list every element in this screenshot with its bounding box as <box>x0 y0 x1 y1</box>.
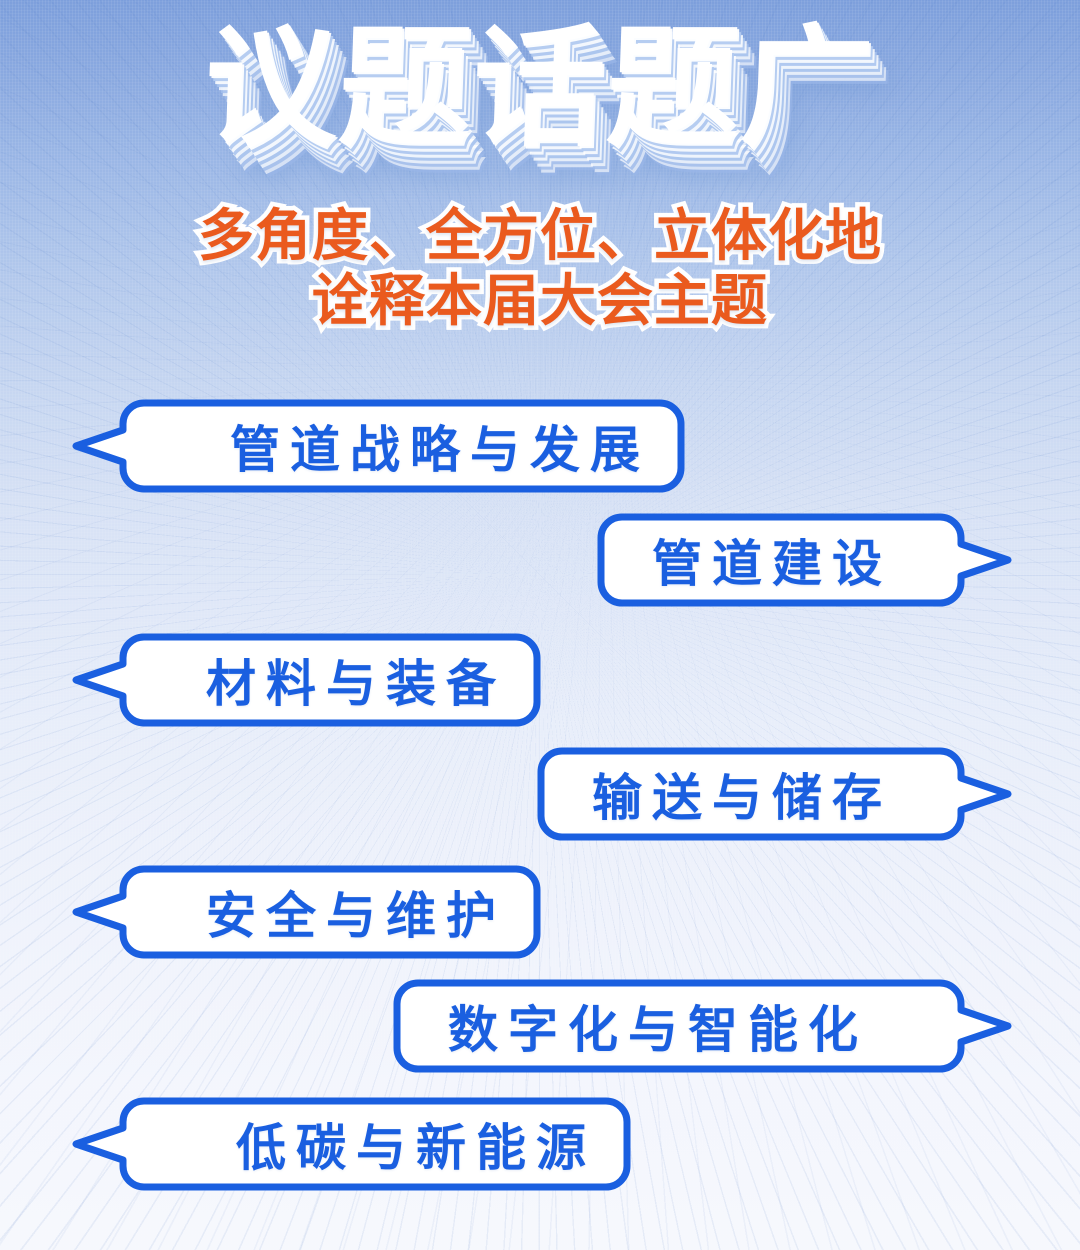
subtitle-line-1: 多角度、全方位、立体化地 <box>0 205 1080 270</box>
headline-block: 议题话题广 <box>0 18 1080 161</box>
topic-pill-4[interactable]: 输送与储存 <box>536 746 1014 842</box>
topic-pill-7[interactable]: 低碳与新能源 <box>70 1096 632 1192</box>
topic-pill-3[interactable]: 材料与装备 <box>70 632 542 728</box>
topic-pill-2-label: 管道建设 <box>652 524 892 596</box>
subtitle-line-2: 诠释本届大会主题 <box>0 270 1080 335</box>
poster-canvas: 议题话题广 多角度、全方位、立体化地 诠释本届大会主题 管道战略与发展 管道建设… <box>0 0 1080 1250</box>
topic-pill-4-label: 输送与储存 <box>592 758 892 830</box>
topic-pill-6-label: 数字化与智能化 <box>448 990 868 1062</box>
topic-pill-1[interactable]: 管道战略与发展 <box>70 398 686 494</box>
topic-pill-6[interactable]: 数字化与智能化 <box>392 978 1014 1074</box>
subtitle-block: 多角度、全方位、立体化地 诠释本届大会主题 <box>0 205 1080 335</box>
topic-pill-2[interactable]: 管道建设 <box>596 512 1014 608</box>
topic-pill-1-label: 管道战略与发展 <box>230 410 650 482</box>
topic-pill-7-label: 低碳与新能源 <box>236 1108 596 1180</box>
topic-pill-3-label: 材料与装备 <box>206 644 506 716</box>
topic-pill-5-label: 安全与维护 <box>206 876 506 948</box>
topic-pill-5[interactable]: 安全与维护 <box>70 864 542 960</box>
page-title: 议题话题广 <box>203 18 878 161</box>
